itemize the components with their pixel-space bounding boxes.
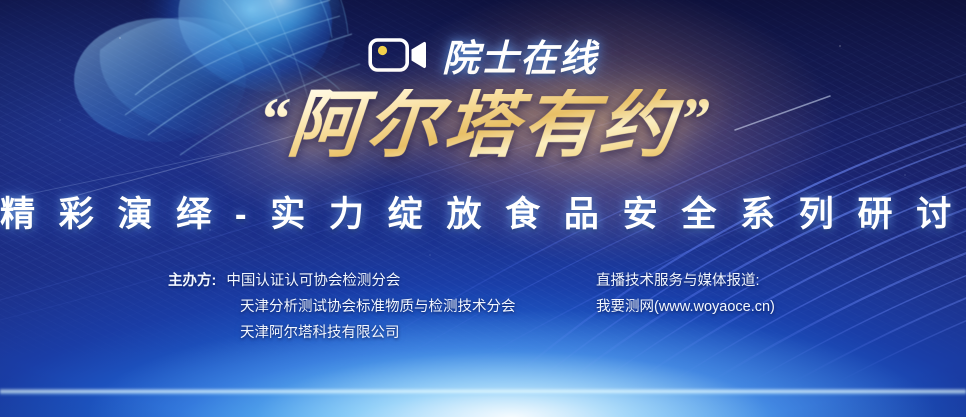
media-value-line: 我要测网(www.woyaoce.cn) [596, 294, 775, 320]
event-banner: 院士在线 “阿尔塔有约” 精 彩 演 绎 - 实 力 绽 放 食 品 安 全 系… [0, 0, 966, 417]
brand-title: 院士在线 [442, 28, 598, 82]
calligraphy-text: 阿尔塔有约 [284, 85, 681, 167]
organizer-item-1: 天津分析测试协会标准物质与检测技术分会 [240, 294, 516, 320]
video-camera-icon [368, 34, 428, 76]
brand-row: 院士在线 [0, 28, 966, 82]
media-column: 直播技术服务与媒体报道: 我要测网(www.woyaoce.cn) [596, 268, 775, 320]
banner-content: 院士在线 “阿尔塔有约” 精 彩 演 绎 - 实 力 绽 放 食 品 安 全 系… [0, 0, 966, 417]
info-block: 主办方: 中国认证认可协会检测分会 天津分析测试协会标准物质与检测技术分会 天津… [0, 268, 966, 368]
organizer-item-2: 天津阿尔塔科技有限公司 [240, 320, 400, 346]
organizers-label: 主办方: [168, 268, 216, 294]
organizer-line: 主办方: 中国认证认可协会检测分会 [168, 268, 516, 294]
organizer-item-0: 中国认证认可协会检测分会 [226, 268, 400, 294]
media-site: 我要测网(www.woyaoce.cn) [596, 294, 775, 320]
media-label-line: 直播技术服务与媒体报道: [596, 268, 775, 294]
calligraphy-title: “阿尔塔有约” [255, 89, 711, 163]
organizer-line: 天津分析测试协会标准物质与检测技术分会 [168, 294, 516, 320]
close-quote: ” [676, 86, 712, 152]
organizers-column: 主办方: 中国认证认可协会检测分会 天津分析测试协会标准物质与检测技术分会 天津… [168, 268, 516, 346]
event-subtitle: 精 彩 演 绎 - 实 力 绽 放 食 品 安 全 系 列 研 讨 会 [0, 186, 966, 237]
organizer-line: 天津阿尔塔科技有限公司 [168, 320, 516, 346]
calligraphy-row: “阿尔塔有约” [0, 78, 966, 174]
media-label: 直播技术服务与媒体报道: [596, 268, 760, 294]
